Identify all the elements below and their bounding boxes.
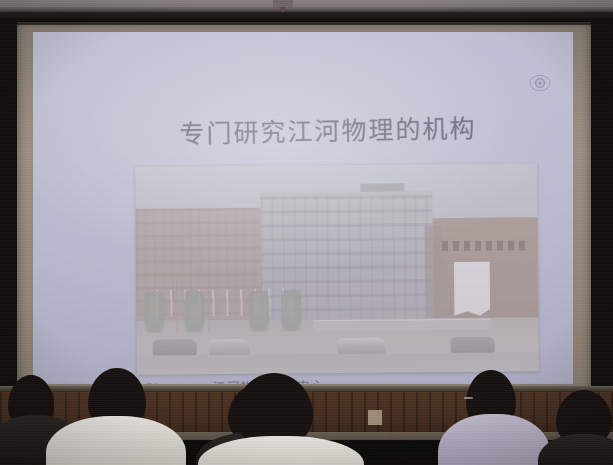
photo-building-tower (425, 226, 442, 320)
photo-road (137, 353, 539, 375)
circular-watermark-logo-icon (529, 74, 551, 92)
photo-tree (281, 290, 301, 332)
lecture-hall-scene: 专门研究江河物理的机构 (0, 0, 613, 465)
photo-building-signage (441, 240, 530, 251)
photo-tree (144, 291, 164, 333)
glasses-icon (464, 397, 473, 399)
photo-boundary-wall (313, 319, 490, 332)
photo-car (450, 336, 494, 353)
institute-building-photo (135, 163, 539, 375)
photo-white-banner (454, 261, 491, 315)
photo-car (338, 337, 386, 354)
projection-screen: 专门研究江河物理的机构 (33, 32, 573, 384)
photo-tree (184, 291, 204, 333)
ceiling-band (0, 0, 613, 12)
photo-car (153, 339, 197, 356)
slide-title: 专门研究江河物理的机构 (128, 114, 528, 150)
photo-tree (249, 290, 269, 332)
photo-car (209, 338, 249, 355)
wall-outlet-plate (368, 410, 382, 425)
